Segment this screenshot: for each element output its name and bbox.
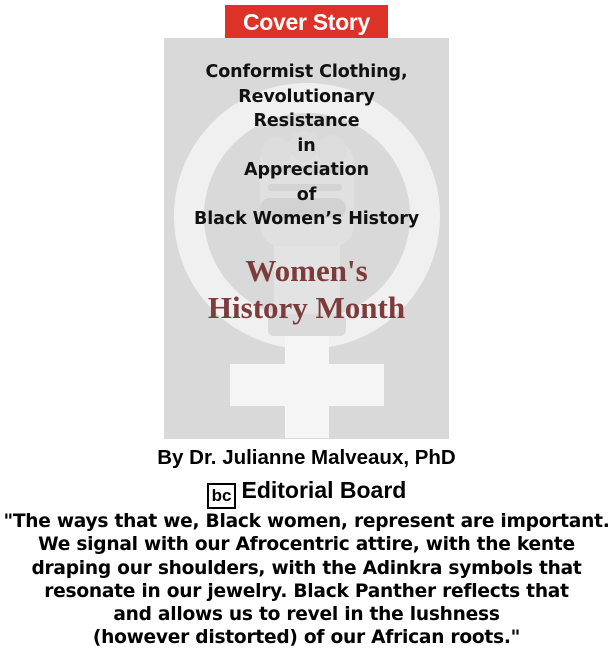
cover-title: Conformist Clothing, Revolutionary Resis… (168, 60, 445, 232)
theme-line: History Month (164, 289, 449, 326)
cover-title-line: Black Women’s History (168, 207, 445, 232)
quote-line: and allows us to revel in the lushness (0, 603, 613, 626)
quote-line: (however distorted) of our African roots… (0, 626, 613, 649)
cover-story-badge: Cover Story (225, 5, 388, 41)
womens-history-month-heading: Women's History Month (164, 252, 449, 326)
cover-title-line: Resistance (168, 109, 445, 134)
pull-quote: "The ways that we, Black women, represen… (0, 510, 613, 650)
cover-title-line: of (168, 183, 445, 208)
editorial-board-row: bcEditorial Board (0, 477, 613, 509)
editorial-board-label: Editorial Board (241, 477, 406, 503)
author-byline: By Dr. Julianne Malveaux, PhD (0, 445, 613, 471)
quote-line: resonate in our jewelry. Black Panther r… (0, 580, 613, 603)
article-cover-graphic: Cover Story (0, 0, 613, 651)
cover-title-line: Conformist Clothing, (168, 60, 445, 85)
theme-line: Women's (164, 252, 449, 289)
cover-title-line: Appreciation (168, 158, 445, 183)
cover-title-line: in (168, 134, 445, 159)
editorial-board-inner: bcEditorial Board (207, 477, 407, 509)
cover-story-badge-row: Cover Story (0, 5, 613, 41)
cover-title-line: Revolutionary (168, 85, 445, 110)
cover-card: Conformist Clothing, Revolutionary Resis… (164, 38, 449, 439)
quote-line: We signal with our Afrocentric attire, w… (0, 533, 613, 556)
cover-card-content: Conformist Clothing, Revolutionary Resis… (164, 38, 449, 326)
bc-logo-icon: bc (207, 483, 237, 509)
quote-line: "The ways that we, Black women, represen… (0, 510, 613, 533)
quote-line: draping our shoulders, with the Adinkra … (0, 557, 613, 580)
